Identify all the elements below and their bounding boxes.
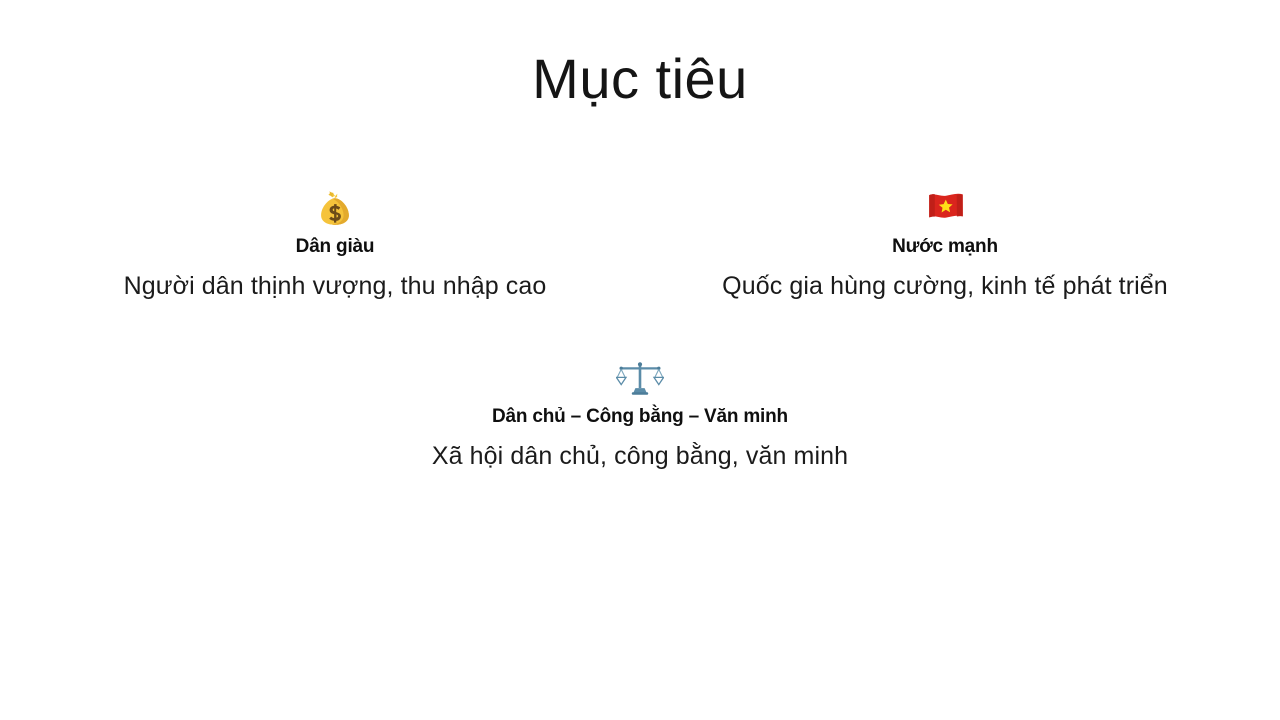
goal-description: Người dân thịnh vượng, thu nhập cao: [103, 270, 567, 304]
goal-description: Xã hội dân chủ, công bằng, văn minh: [398, 440, 882, 474]
page-title: Mục tiêu: [0, 48, 1280, 110]
goals-row-bottom: Dân chủ – Công bằng – Văn minh Xã hội dâ…: [0, 360, 1280, 473]
goals-row-top: Dân giàu Người dân thịnh vượng, thu nhập…: [0, 190, 1280, 303]
goal-card-nuoc-manh: Nước mạnh Quốc gia hùng cường, kinh tế p…: [705, 190, 1185, 303]
money-bag-icon: [103, 190, 567, 228]
goals-grid: Dân giàu Người dân thịnh vượng, thu nhập…: [0, 190, 1280, 474]
goal-heading: Dân giàu: [103, 235, 567, 259]
goal-heading: Nước mạnh: [713, 235, 1177, 259]
balance-scale-icon: [398, 360, 882, 398]
vietnam-flag-icon: [713, 190, 1177, 228]
goal-description: Quốc gia hùng cường, kinh tế phát triển: [715, 270, 1175, 304]
goal-heading: Dân chủ – Công bằng – Văn minh: [398, 405, 882, 429]
goal-card-dan-giau: Dân giàu Người dân thịnh vượng, thu nhập…: [95, 190, 575, 303]
goal-card-dan-chu-cong-bang-van-minh: Dân chủ – Công bằng – Văn minh Xã hội dâ…: [390, 360, 890, 473]
slide-canvas: Mục tiêu Dân giàu Người dân thịnh vư: [0, 0, 1280, 720]
